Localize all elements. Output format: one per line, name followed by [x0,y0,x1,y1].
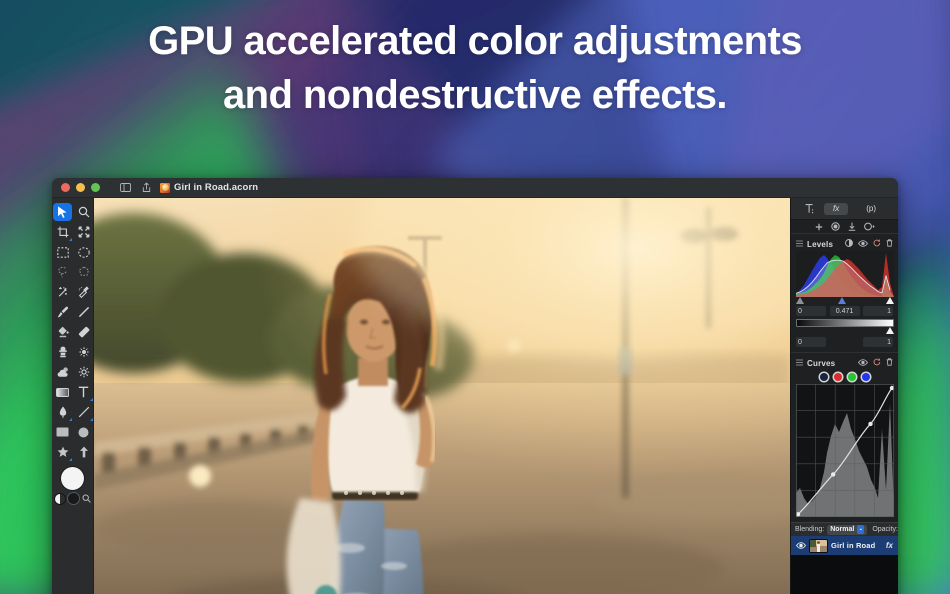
curves-chart [796,384,894,517]
curves-panel: Curves [791,353,898,522]
tool-ellipse-shape[interactable] [73,422,94,442]
channel-red[interactable] [834,373,842,381]
levels-output-white-field[interactable]: 1 [863,337,893,347]
inspector-sidebar: fx (p) Levels [790,198,898,594]
tool-gradient[interactable] [52,382,73,402]
layer-visibility-eye-icon[interactable] [796,542,806,549]
eye-icon[interactable] [858,240,868,249]
text-T-icon [78,386,89,398]
magnifier-icon [78,206,90,218]
traffic-light-group [61,183,100,192]
photo-artwork [94,198,790,594]
window-title: Girl in Road.acorn [174,182,258,193]
paint-bucket-icon [57,326,69,338]
options-icon[interactable] [864,222,875,231]
tool-zoom[interactable] [73,202,94,222]
layer-fx-badge[interactable]: fx [886,541,893,550]
marketing-headline: GPU accelerated color adjustments and no… [0,14,950,123]
arrow-up-icon [79,446,89,458]
paintbrush-icon [57,306,69,318]
levels-output-sliders[interactable] [796,327,894,334]
tool-polygon-select[interactable] [73,262,94,282]
tool-rectangle-shape[interactable] [52,422,73,442]
document-title-group[interactable]: Girl in Road.acorn [160,182,258,193]
eraser-icon [78,326,90,338]
photo-girl-in-road [94,198,790,594]
cloud-blur-icon [57,367,69,378]
tool-magic-wand[interactable] [52,282,73,302]
sidebar-toggle-icon[interactable] [120,183,131,192]
gradient-icon [56,388,69,397]
levels-panel-header[interactable]: Levels [796,237,893,251]
reset-icon[interactable] [873,358,881,368]
clone-stamp-icon [57,346,69,358]
marquee-ellipse-icon [78,247,90,258]
line-icon [78,406,90,418]
tool-smudge[interactable] [73,342,94,362]
channel-composite[interactable] [820,373,828,381]
tab-properties[interactable]: (p) [857,203,885,215]
magic-wand-icon [57,286,69,298]
tool-star-shape[interactable] [52,442,73,462]
zoom-button[interactable] [91,183,100,192]
tool-bezier-pen[interactable] [52,402,73,422]
levels-input-values: 0 0.471 1 [796,306,893,316]
blend-mode-value: Normal [830,526,854,533]
curves-title: Curves [807,359,858,368]
tool-clone-stamp[interactable] [52,342,73,362]
drag-handle-icon[interactable] [796,240,803,249]
levels-input-white-field[interactable]: 1 [863,306,893,316]
channel-green[interactable] [848,373,856,381]
swap-colors-icon[interactable] [55,494,65,504]
rectangle-icon [56,427,69,437]
tool-submenu-indicator[interactable] [90,398,93,401]
pencil-icon [78,306,90,318]
levels-panel: Levels [791,234,898,353]
tab-filters[interactable]: fx [824,203,848,215]
image-canvas[interactable] [94,198,790,594]
levels-input-gamma-field[interactable]: 0.471 [830,306,860,316]
tool-submenu-indicator[interactable] [90,418,93,421]
zoom-level-icon[interactable] [82,494,91,503]
levels-input-black-field[interactable]: 0 [796,306,826,316]
curves-graph[interactable] [796,384,894,517]
layer-name: Girl in Road [831,541,882,550]
trash-icon[interactable] [886,358,893,368]
levels-output-black-field[interactable]: 0 [796,337,826,347]
tool-text[interactable] [73,382,94,402]
layer-thumbnail [810,540,827,552]
ellipse-icon [78,427,89,438]
star-icon [57,446,69,458]
tool-crop[interactable] [52,222,73,242]
tool-grid [52,202,94,462]
layer-row[interactable]: Girl in Road fx [791,536,898,555]
tool-arrow-shape[interactable] [73,442,94,462]
tool-move[interactable] [52,202,73,222]
color-swatches [52,467,93,504]
tool-submenu-indicator[interactable] [69,418,72,421]
levels-output-gradient[interactable] [796,319,894,327]
tool-rectangular-select[interactable] [52,242,73,262]
white-point-slider[interactable] [886,297,894,304]
add-filter-icon[interactable] [815,223,823,231]
curves-channel-selector [796,373,893,381]
gamma-slider[interactable] [838,297,846,304]
blending-bar: Blending: Normal ⌄ Opacity: 100% [791,522,898,536]
crop-icon [57,226,69,238]
inspector-tabbar: fx (p) [791,198,898,220]
chevron-updown-icon: ⌄ [857,525,864,534]
window-titlebar[interactable]: Girl in Road.acorn [52,178,898,198]
levels-output-values: 0 1 [796,337,893,347]
lasso-icon [57,266,69,278]
tool-pencil[interactable] [73,302,94,322]
tool-eraser[interactable] [73,322,94,342]
sun-dodge-icon [78,366,90,378]
foreground-color-swatch[interactable] [61,467,84,490]
tool-blur[interactable] [52,362,73,382]
tool-elliptical-select[interactable] [73,242,94,262]
import-icon[interactable] [848,222,856,231]
contrast-icon[interactable] [845,239,853,249]
eye-icon[interactable] [858,359,868,368]
transform-arrows-icon [78,226,90,238]
minimize-button[interactable] [76,183,85,192]
acorn-app-window: Girl in Road.acorn [52,178,898,594]
output-white-slider[interactable] [886,327,894,334]
headline-line-1: GPU accelerated color adjustments [0,14,950,68]
drag-handle-icon[interactable] [796,359,803,368]
blending-label: Blending: [795,526,824,533]
headline-line-2: and nondestructive effects. [0,68,950,122]
tool-submenu-indicator[interactable] [69,238,72,241]
tool-lasso-select[interactable] [52,262,73,282]
add-mask-icon[interactable] [831,222,840,231]
tool-dodge-burn[interactable] [73,362,94,382]
share-icon[interactable] [142,182,151,193]
curves-panel-header[interactable]: Curves [796,356,893,370]
blend-mode-popup[interactable]: Normal ⌄ [827,525,867,535]
levels-title: Levels [807,240,845,249]
pen-nib-icon [58,406,68,419]
tool-paint-bucket[interactable] [52,322,73,342]
toolbox-palette [52,198,94,594]
layers-list[interactable]: Girl in Road fx [791,536,898,594]
smudge-icon [78,346,90,358]
trash-icon[interactable] [886,239,893,249]
tool-line-shape[interactable] [73,402,94,422]
document-proxy-icon[interactable] [160,183,170,193]
marquee-rect-icon [57,247,69,258]
tool-transform[interactable] [73,222,94,242]
channel-blue[interactable] [862,373,870,381]
reset-icon[interactable] [873,239,881,249]
close-button[interactable] [61,183,70,192]
cursor-arrow-icon [57,206,68,218]
instant-alpha-icon [78,286,90,298]
inspector-action-bar [791,220,898,234]
background-color-swatch[interactable] [68,493,79,504]
tab-tool-options[interactable] [804,203,815,214]
levels-histogram-chart [796,251,894,297]
tool-brush[interactable] [52,302,73,322]
tool-instant-alpha[interactable] [73,282,94,302]
black-point-slider[interactable] [796,297,804,304]
opacity-label: Opacity: [872,526,898,533]
polygon-lasso-icon [78,266,90,278]
levels-histogram [796,251,894,297]
levels-input-sliders[interactable] [796,297,894,305]
tool-submenu-indicator[interactable] [69,458,72,461]
